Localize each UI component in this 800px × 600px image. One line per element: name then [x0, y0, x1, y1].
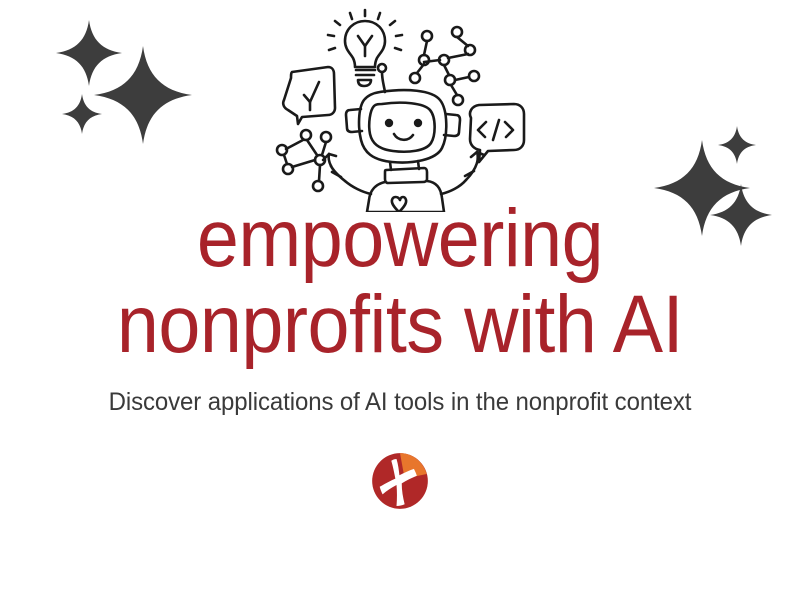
headline-line-1: empowering	[32, 196, 768, 282]
checkmark-bubble-icon	[283, 67, 335, 124]
lightbulb-icon	[328, 10, 402, 86]
sparkle-left-small	[62, 94, 102, 134]
presentation-slide: empowering nonprofits with AI Discover a…	[0, 0, 800, 600]
robot-icon	[323, 64, 484, 212]
sparkle-right-small	[718, 126, 756, 164]
page-title: empowering nonprofits with AI	[0, 196, 800, 368]
network-cluster-right-icon	[410, 27, 479, 105]
subtitle-text: Discover applications of AI tools in the…	[16, 387, 784, 417]
sparkle-left-large	[94, 46, 192, 144]
ai-robot-doodle	[272, 4, 528, 212]
headline-line-2: nonprofits with AI	[32, 282, 768, 368]
brand-logo	[371, 452, 429, 510]
sparkle-left-medium	[56, 20, 122, 86]
